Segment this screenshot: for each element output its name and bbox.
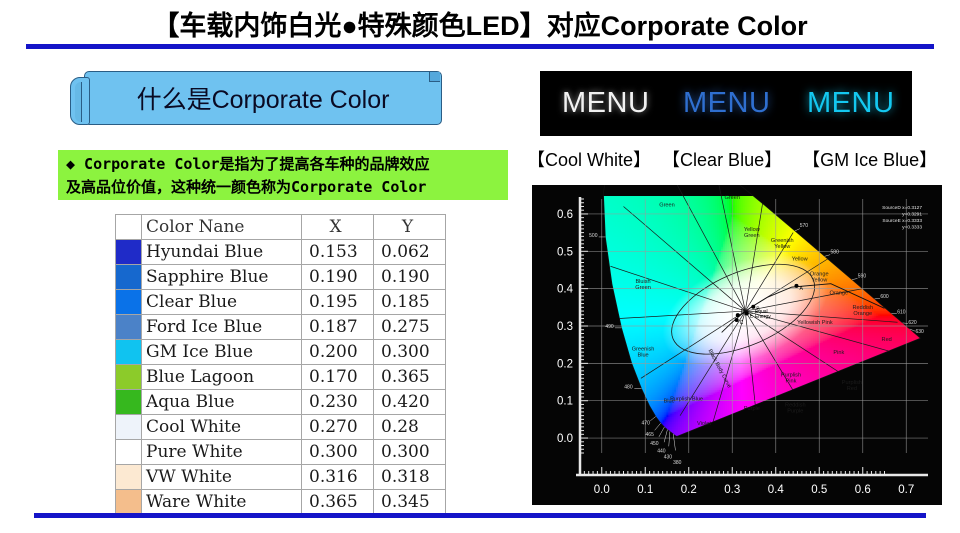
color-y-value: 0.190 (374, 265, 446, 290)
wavelength-label: 380 (673, 460, 682, 466)
table-row: VW White0.3160.318 (116, 465, 446, 490)
scroll-banner-label: 什么是Corporate Color (137, 80, 390, 116)
region-label: Orange (829, 290, 848, 296)
table-row: Aqua Blue0.2300.420 (116, 390, 446, 415)
color-y-value: 0.300 (374, 440, 446, 465)
x-tick-label: 0.2 (681, 484, 697, 496)
y-tick-label: 0.4 (557, 284, 574, 296)
header-color-name: Color Nane (142, 215, 302, 240)
table-row: GM Ice Blue0.2000.300 (116, 340, 446, 365)
wavelength-label: 500 (589, 233, 598, 239)
caption-gm-ice-blue: 【GM Ice Blue】 (793, 150, 937, 170)
illuminant-label-A: A (799, 286, 803, 292)
region-label: Yellow (811, 278, 828, 284)
header-x: X (302, 215, 374, 240)
menu-word-gm-ice-blue: MENU (807, 87, 894, 120)
cie-chromaticity-diagram: 0.00.10.20.30.40.50.60.70.00.10.20.30.40… (532, 185, 942, 505)
y-tick-label: 0.1 (557, 396, 573, 408)
table-row: Ford Ice Blue0.1870.275 (116, 315, 446, 340)
table-row: Cool White0.2700.28 (116, 415, 446, 440)
table-row: Hyundai Blue0.1530.062 (116, 240, 446, 265)
color-y-value: 0.275 (374, 315, 446, 340)
color-x-value: 0.270 (302, 415, 374, 440)
x-tick-label: 0.0 (594, 484, 610, 496)
x-tick-label: 0.7 (898, 484, 914, 496)
color-y-value: 0.062 (374, 240, 446, 265)
color-y-value: 0.345 (374, 490, 446, 515)
y-tick-label: 0.5 (557, 246, 573, 258)
cie-chart-svg: 0.00.10.20.30.40.50.60.70.00.10.20.30.40… (532, 185, 942, 505)
color-x-value: 0.170 (302, 365, 374, 390)
color-x-value: 0.300 (302, 440, 374, 465)
y-tick-label: 0.0 (557, 433, 573, 445)
color-x-value: 0.230 (302, 390, 374, 415)
x-tick-label: 0.6 (855, 484, 871, 496)
bottom-divider (34, 513, 926, 518)
illuminant-label-E: E (750, 314, 754, 320)
wavelength-label: 470 (642, 420, 651, 426)
scroll-banner-curl-inner (75, 82, 82, 122)
color-swatch (116, 240, 142, 265)
menu-photo: MENU MENU MENU (540, 71, 912, 136)
color-y-value: 0.300 (374, 340, 446, 365)
chart-annotation: SourceD x=0.3127 (882, 205, 922, 211)
color-name: Aqua Blue (142, 390, 302, 415)
color-x-value: 0.365 (302, 490, 374, 515)
wavelength-label: 570 (800, 223, 809, 229)
color-swatch (116, 340, 142, 365)
menu-word-cool-white: MENU (562, 87, 649, 120)
x-tick-label: 0.1 (637, 484, 653, 496)
color-swatch (116, 290, 142, 315)
table-header-row: Color Nane X Y (116, 215, 446, 240)
region-label: Purple (787, 408, 803, 414)
color-x-value: 0.200 (302, 340, 374, 365)
illuminant-label-D: D (741, 309, 745, 315)
color-name: Ware White (142, 490, 302, 515)
color-y-value: 0.420 (374, 390, 446, 415)
note-line-1: ◆ Corporate Color是指为了提高各车种的品牌效应 (66, 153, 508, 176)
color-y-value: 0.185 (374, 290, 446, 315)
region-label: Yellow (774, 244, 791, 250)
wavelength-label: 490 (605, 324, 614, 330)
illuminant-label-C: C (740, 320, 744, 326)
wavelength-label: 620 (908, 320, 917, 326)
region-label: Violet (697, 421, 711, 427)
color-y-value: 0.28 (374, 415, 446, 440)
wavelength-label: 630 (916, 329, 925, 335)
color-swatch (116, 265, 142, 290)
scroll-banner: 什么是Corporate Color (70, 71, 442, 125)
scroll-banner-curl (70, 77, 90, 125)
region-label: Purple (744, 406, 760, 412)
equal-energy-label: Energy (755, 314, 771, 320)
color-name: Sapphire Blue (142, 265, 302, 290)
region-label: Green (659, 202, 675, 208)
table-row: Clear Blue0.1950.185 (116, 290, 446, 315)
header-swatch (116, 215, 142, 240)
region-label: Red (882, 337, 892, 343)
region-label: Pink (786, 378, 797, 384)
region-label: Purplish Blue (670, 397, 703, 403)
region-label: Pink (833, 350, 844, 356)
wavelength-label: 600 (880, 294, 889, 300)
caption-cool-white: 【Cool White】 (527, 150, 651, 170)
color-name: Hyundai Blue (142, 240, 302, 265)
region-label: Green (744, 233, 760, 239)
scroll-banner-corner (429, 72, 440, 82)
color-name: Blue Lagoon (142, 365, 302, 390)
wavelength-label: 430 (664, 454, 673, 460)
color-swatch (116, 490, 142, 515)
region-label: Red (847, 386, 857, 392)
region-label: Green (724, 195, 740, 201)
chart-annotation: y=0.3333 (902, 225, 922, 231)
color-swatch (116, 390, 142, 415)
color-swatch (116, 440, 142, 465)
scroll-banner-body: 什么是Corporate Color (84, 71, 442, 125)
region-label: Yellow (792, 257, 809, 263)
table-row: Pure White0.3000.300 (116, 440, 446, 465)
color-y-value: 0.365 (374, 365, 446, 390)
color-name: Pure White (142, 440, 302, 465)
color-swatch (116, 365, 142, 390)
color-swatch (116, 415, 142, 440)
region-label: Yellowish Pink (797, 320, 833, 326)
color-y-value: 0.318 (374, 465, 446, 490)
region-label: Green (635, 285, 651, 291)
header-y: Y (374, 215, 446, 240)
color-x-value: 0.195 (302, 290, 374, 315)
color-x-value: 0.316 (302, 465, 374, 490)
x-tick-label: 0.3 (724, 484, 740, 496)
table-row: Ware White0.3650.345 (116, 490, 446, 515)
color-name: VW White (142, 465, 302, 490)
wavelength-label: 610 (897, 309, 906, 315)
wavelength-label: 590 (858, 274, 867, 280)
wavelength-label: 465 (646, 432, 655, 438)
color-table: Color Nane X Y Hyundai Blue0.1530.062Sap… (115, 214, 446, 515)
color-name: Cool White (142, 415, 302, 440)
color-name: GM Ice Blue (142, 340, 302, 365)
caption-clear-blue: 【Clear Blue】 (662, 150, 782, 170)
chart-annotation: y=0.3291 (902, 212, 922, 218)
region-label: Blue (664, 399, 675, 405)
y-tick-label: 0.3 (557, 321, 573, 333)
color-swatch (116, 315, 142, 340)
menu-photo-caption: 【Cool White】 【Clear Blue】 【GM Ice Blue】 (527, 146, 947, 172)
x-tick-label: 0.4 (768, 484, 785, 496)
color-name: Ford Ice Blue (142, 315, 302, 340)
table-row: Blue Lagoon0.1700.365 (116, 365, 446, 390)
note-box: ◆ Corporate Color是指为了提高各车种的品牌效应 及高品位价值，这… (58, 150, 508, 200)
note-line-2: 及高品位价值，这种统一颜色称为Corporate Color (66, 176, 508, 199)
chart-annotation: SourceE x=0.3333 (882, 218, 922, 224)
x-tick-label: 0.5 (811, 484, 827, 496)
y-tick-label: 0.2 (557, 358, 573, 370)
menu-word-clear-blue: MENU (683, 87, 770, 120)
region-label: Blue (637, 352, 648, 358)
wavelength-label: 450 (650, 441, 659, 447)
table-row: Sapphire Blue0.1900.190 (116, 265, 446, 290)
color-swatch (116, 465, 142, 490)
color-x-value: 0.153 (302, 240, 374, 265)
page-title: 【车载内饰白光●特殊颜色LED】对应Corporate Color (0, 4, 960, 43)
color-x-value: 0.190 (302, 265, 374, 290)
wavelength-label: 480 (624, 384, 633, 390)
color-name: Clear Blue (142, 290, 302, 315)
title-divider (26, 44, 934, 49)
wavelength-label: 580 (831, 249, 840, 255)
y-tick-label: 0.6 (557, 209, 573, 221)
color-x-value: 0.187 (302, 315, 374, 340)
region-label: Orange (853, 311, 872, 317)
